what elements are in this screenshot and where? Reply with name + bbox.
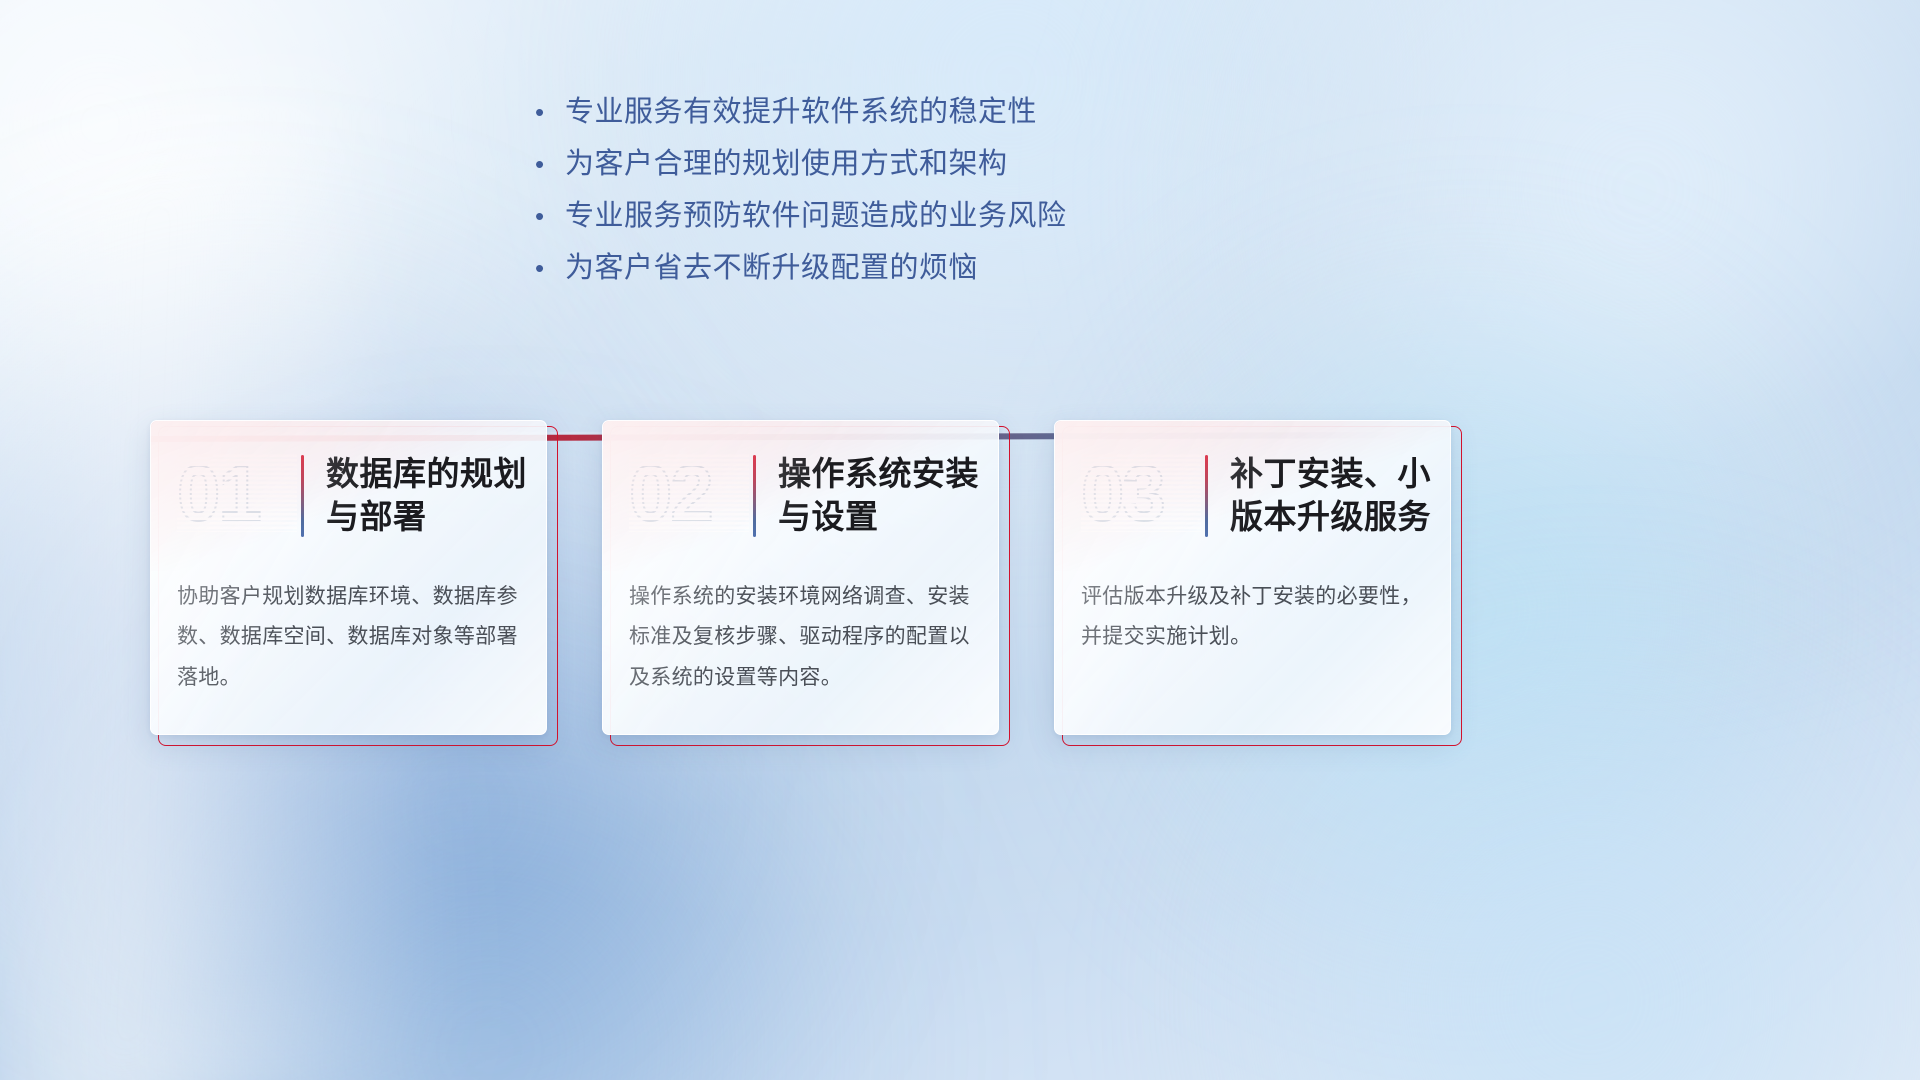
card-header: 01 数据库的规划与部署 [151,421,546,571]
service-card-02[interactable]: 02 操作系统安装与设置 操作系统的安装环境网络调查、安装标准及复核步骤、驱动程… [602,420,1002,740]
list-item: • 为客户合理的规划使用方式和架构 [535,140,1067,192]
card-divider-line [1205,455,1208,537]
service-card-03[interactable]: 03 补丁安装、小版本升级服务 评估版本升级及补丁安装的必要性，并提交实施计划。 [1054,420,1454,740]
card-header: 03 补丁安装、小版本升级服务 [1055,421,1450,571]
bullet-text: 专业服务有效提升软件系统的稳定性 [565,88,1037,130]
card-surface[interactable]: 02 操作系统安装与设置 操作系统的安装环境网络调查、安装标准及复核步骤、驱动程… [602,420,999,735]
card-title: 数据库的规划与部署 [326,453,528,539]
card-title: 补丁安装、小版本升级服务 [1230,453,1432,539]
card-number: 03 [1081,454,1201,532]
bullet-dot-icon: • [535,99,565,125]
bullet-text: 为客户省去不断升级配置的烦恼 [565,244,978,286]
card-body-text: 操作系统的安装环境网络调查、安装标准及复核步骤、驱动程序的配置以及系统的设置等内… [603,571,998,698]
benefits-bullet-list: • 专业服务有效提升软件系统的稳定性 • 为客户合理的规划使用方式和架构 • 专… [535,88,1067,296]
bullet-text: 专业服务预防软件问题造成的业务风险 [565,192,1067,234]
bullet-text: 为客户合理的规划使用方式和架构 [565,140,1008,182]
service-card-list: 01 数据库的规划与部署 协助客户规划数据库环境、数据库参数、数据库空间、数据库… [0,420,1920,740]
card-surface[interactable]: 01 数据库的规划与部署 协助客户规划数据库环境、数据库参数、数据库空间、数据库… [150,420,547,735]
card-header: 02 操作系统安装与设置 [603,421,998,571]
list-item: • 专业服务预防软件问题造成的业务风险 [535,192,1067,244]
list-item: • 专业服务有效提升软件系统的稳定性 [535,88,1067,140]
service-card-01[interactable]: 01 数据库的规划与部署 协助客户规划数据库环境、数据库参数、数据库空间、数据库… [150,420,550,740]
card-body-text: 评估版本升级及补丁安装的必要性，并提交实施计划。 [1055,571,1450,658]
card-number: 02 [629,454,749,532]
card-surface[interactable]: 03 补丁安装、小版本升级服务 评估版本升级及补丁安装的必要性，并提交实施计划。 [1054,420,1451,735]
card-body-text: 协助客户规划数据库环境、数据库参数、数据库空间、数据库对象等部署落地。 [151,571,546,698]
card-number: 01 [177,454,297,532]
bullet-dot-icon: • [535,255,565,281]
card-divider-line [301,455,304,537]
bullet-dot-icon: • [535,151,565,177]
bullet-dot-icon: • [535,203,565,229]
card-divider-line [753,455,756,537]
card-title: 操作系统安装与设置 [778,453,980,539]
list-item: • 为客户省去不断升级配置的烦恼 [535,244,1067,296]
